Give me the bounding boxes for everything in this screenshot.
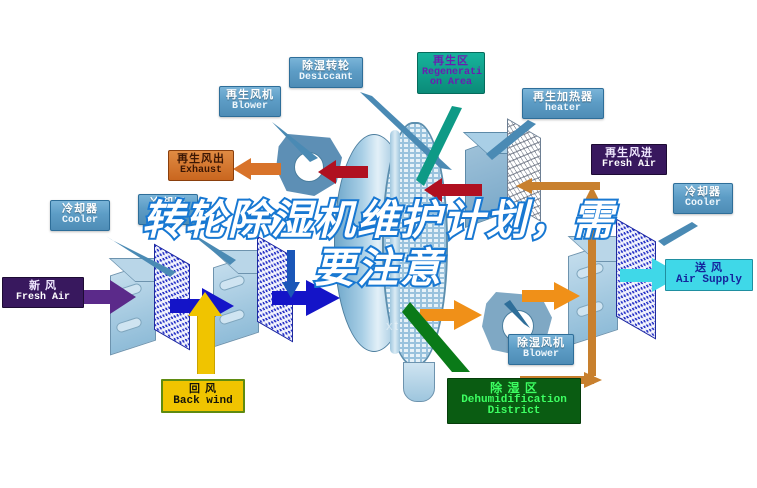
watermark: xt xyxy=(386,318,400,333)
label-back-wind-en: Back wind xyxy=(167,396,239,408)
label-desiccant-rotor[interactable]: 除湿转轮 Desiccant xyxy=(289,57,363,88)
label-exhaust-en: Exhaust xyxy=(173,166,229,177)
label-regen-area[interactable]: 再生区 Regenerati on Area xyxy=(417,52,485,94)
flow-dehum-arrow-1 xyxy=(420,300,482,330)
label-regen-fresh-air-cn: 再生风进 xyxy=(596,148,662,160)
label-back-wind-cn: 回 风 xyxy=(167,384,239,396)
label-regen-fresh-air[interactable]: 再生风进 Fresh Air xyxy=(591,144,667,175)
rotor-drip-tray xyxy=(403,362,435,402)
label-dehum-blower-en: Blower xyxy=(513,350,569,361)
label-exhaust[interactable]: 再生风出 Exhaust xyxy=(168,150,234,181)
label-regen-area-cn: 再生区 xyxy=(422,56,480,68)
label-dehum-blower[interactable]: 除湿风机 Blower xyxy=(508,334,574,365)
overlay-title-line1: 转轮除湿机维护计划，需 xyxy=(142,196,615,244)
label-regen-heater[interactable]: 再生加热器 heater xyxy=(522,88,604,119)
diagram-canvas: xt 再生风机 Blower 除湿转轮 Desiccant 再生区 Regene… xyxy=(0,0,757,488)
label-desiccant-rotor-cn: 除湿转轮 xyxy=(294,61,358,73)
label-regen-area-en2: on Area xyxy=(422,78,480,89)
flow-back-wind-arrow xyxy=(188,292,222,374)
label-desiccant-rotor-en: Desiccant xyxy=(294,73,358,84)
label-regen-blower-en: Blower xyxy=(224,102,276,113)
label-dehum-district-cn: 除 湿 区 xyxy=(452,382,576,395)
label-regen-heater-en: heater xyxy=(527,104,599,115)
label-dehum-blower-cn: 除湿风机 xyxy=(513,338,569,350)
label-back-wind[interactable]: 回 风 Back wind xyxy=(161,379,245,413)
label-regen-blower[interactable]: 再生风机 Blower xyxy=(219,86,281,117)
label-fresh-air-in-en: Fresh Air xyxy=(7,293,79,304)
overlay-title: 转轮除湿机维护计划，需 要注意 xyxy=(0,196,757,292)
flow-exhaust-arrow xyxy=(233,158,281,180)
label-dehum-district-en2: District xyxy=(452,406,576,418)
label-regen-heater-cn: 再生加热器 xyxy=(527,92,599,104)
overlay-title-line2: 要注意 xyxy=(0,244,757,292)
label-regen-fresh-air-en: Fresh Air xyxy=(596,160,662,171)
label-regen-blower-cn: 再生风机 xyxy=(224,90,276,102)
label-exhaust-cn: 再生风出 xyxy=(173,154,229,166)
flow-fresh-regen-arrow-into-heater xyxy=(516,178,600,194)
flow-regen-hot-arrow-1 xyxy=(318,160,368,184)
label-dehum-district[interactable]: 除 湿 区 Dehumidification District xyxy=(447,378,581,424)
